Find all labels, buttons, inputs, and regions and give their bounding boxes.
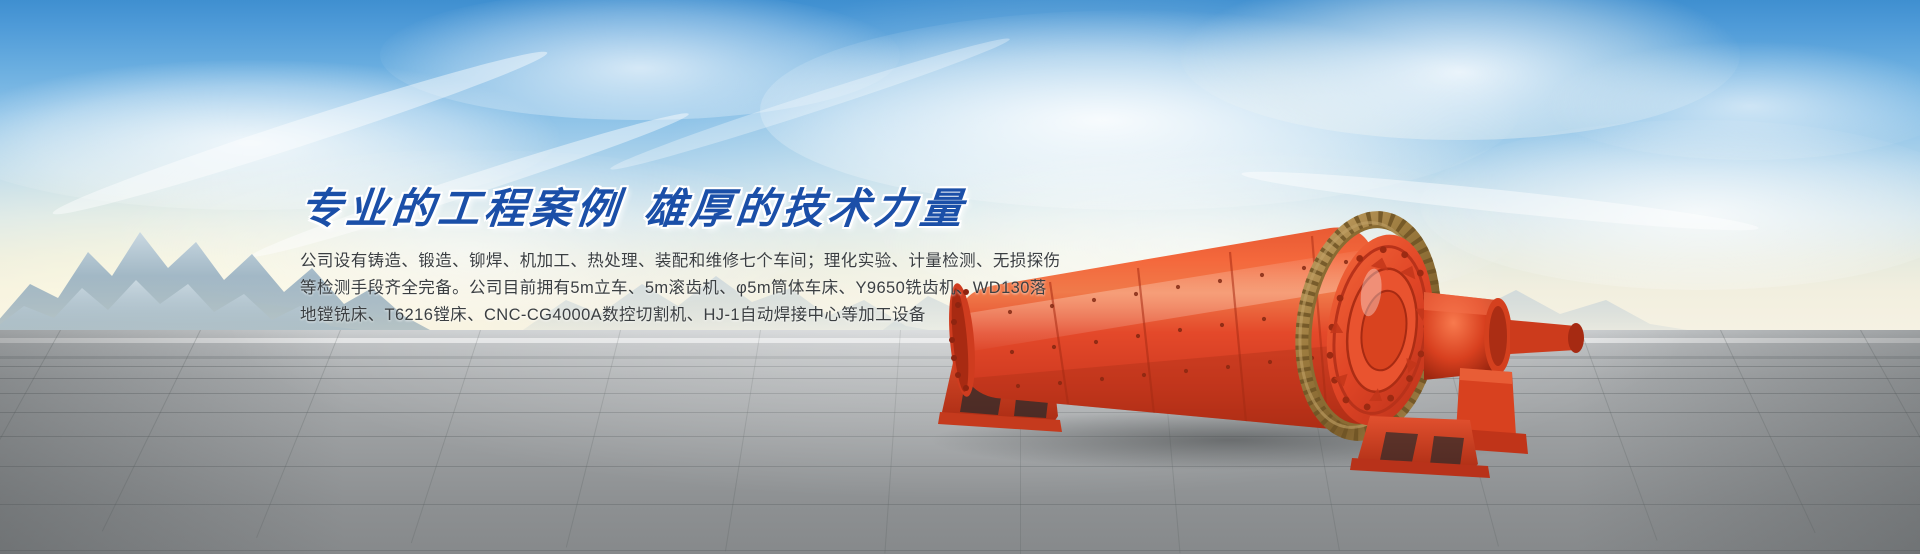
description-line: 地镗铣床、T6216镗床、CNC-CG4000A数控切割机、HJ-1自动焊接中心…	[300, 302, 1250, 329]
banner-headline: 专业的工程案例雄厚的技术力量	[297, 186, 1252, 234]
description-line: 等检测手段齐全完备。公司目前拥有5m立车、5m滚齿机、φ5m筒体车床、Y9650…	[300, 275, 1250, 302]
headline-part-2: 雄厚的技术力量	[642, 187, 969, 233]
banner-description: 公司设有铸造、锻造、铆焊、机加工、热处理、装配和维修七个车间；理化实验、计量检测…	[300, 248, 1250, 329]
description-line: 公司设有铸造、锻造、铆焊、机加工、热处理、装配和维修七个车间；理化实验、计量检测…	[300, 248, 1250, 275]
headline-part-1: 专业的工程案例	[298, 187, 625, 233]
hero-banner: 专业的工程案例雄厚的技术力量 公司设有铸造、锻造、铆焊、机加工、热处理、装配和维…	[0, 0, 1920, 554]
banner-copy: 专业的工程案例雄厚的技术力量 公司设有铸造、锻造、铆焊、机加工、热处理、装配和维…	[300, 186, 1250, 329]
